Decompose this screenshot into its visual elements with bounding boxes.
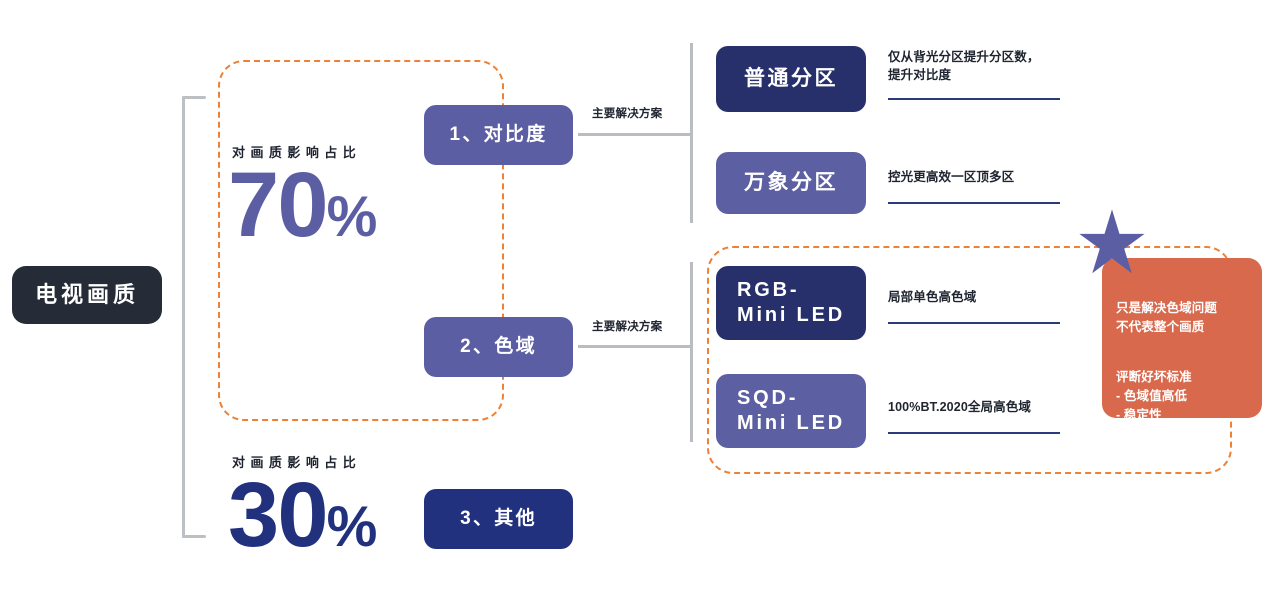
root-node-label: 电视画质: [35, 281, 139, 309]
solution-underline-sqd-mini-led: [888, 432, 1060, 434]
solution-node-rgb-mini-led[interactable]: RGB- Mini LED: [716, 266, 866, 340]
node-contrast[interactable]: 1、对比度: [424, 105, 573, 165]
diagram-canvas: 电视画质 对画质影响占比 70% 对画质影响占比 30% 1、对比度 2、色域 …: [0, 0, 1265, 600]
connector-line-gamut: [578, 345, 690, 348]
connector-spine-contrast: [690, 43, 693, 223]
connector-line-contrast: [578, 133, 690, 136]
impact-share-value: 70%: [228, 163, 376, 248]
impact-share-value: 30%: [228, 473, 376, 558]
node-contrast-label: 1、对比度: [450, 123, 548, 147]
percent-sign: %: [327, 185, 376, 249]
solution-underline-standard-zones: [888, 98, 1060, 100]
node-other-label: 3、其他: [460, 507, 537, 531]
root-node-tv-picture-quality[interactable]: 电视画质: [12, 266, 162, 324]
solution-node-wanxiang-zones[interactable]: 万象分区: [716, 152, 866, 214]
impact-share-number: 70: [228, 154, 327, 256]
solution-node-standard-zones[interactable]: 普通分区: [716, 46, 866, 112]
connector-label-contrast: 主要解决方案: [592, 105, 662, 121]
callout-gamut-note: 只是解决色域问题 不代表整个画质 评断好坏标准 - 色域值高低 - 稳定性: [1102, 258, 1262, 418]
bracket-spine: [182, 96, 185, 538]
star-icon: [1078, 208, 1146, 276]
solution-underline-rgb-mini-led: [888, 322, 1060, 324]
impact-share-70: 对画质影响占比 70%: [228, 142, 376, 248]
solution-node-wanxiang-zones-label: 万象分区: [744, 170, 838, 196]
solution-node-sqd-mini-led-label: SQD- Mini LED: [737, 386, 845, 436]
solution-node-sqd-mini-led[interactable]: SQD- Mini LED: [716, 374, 866, 448]
node-color-gamut[interactable]: 2、色域: [424, 317, 573, 377]
percent-sign: %: [327, 495, 376, 559]
callout-group-2: 评断好坏标准 - 色域值高低 - 稳定性: [1116, 368, 1262, 424]
solution-desc-rgb-mini-led: 局部单色高色域: [888, 288, 1073, 306]
node-color-gamut-label: 2、色域: [460, 335, 537, 359]
node-other[interactable]: 3、其他: [424, 489, 573, 549]
connector-spine-gamut: [690, 262, 693, 442]
solution-node-standard-zones-label: 普通分区: [744, 66, 838, 92]
solution-underline-wanxiang-zones: [888, 202, 1060, 204]
callout-group-1: 只是解决色域问题 不代表整个画质: [1116, 299, 1262, 337]
solution-node-rgb-mini-led-label: RGB- Mini LED: [737, 278, 845, 328]
solution-desc-sqd-mini-led: 100%BT.2020全局高色域: [888, 398, 1088, 416]
bracket-tip-top: [182, 96, 206, 99]
connector-label-gamut: 主要解决方案: [592, 318, 662, 334]
root-bracket: [182, 96, 208, 538]
solution-desc-wanxiang-zones: 控光更高效一区顶多区: [888, 168, 1073, 186]
solution-desc-standard-zones: 仅从背光分区提升分区数， 提升对比度: [888, 48, 1073, 84]
bracket-tip-bottom: [182, 535, 206, 538]
impact-share-30: 对画质影响占比 30%: [228, 452, 376, 558]
impact-share-number: 30: [228, 464, 327, 566]
